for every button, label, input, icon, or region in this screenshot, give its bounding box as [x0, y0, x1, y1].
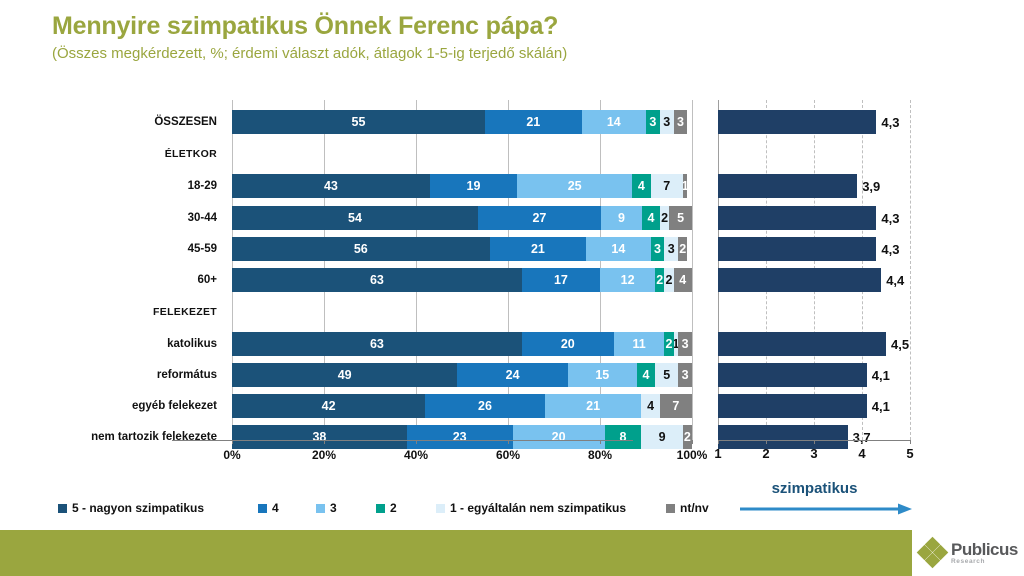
average-bar — [718, 394, 867, 418]
average-value-label: 3,9 — [862, 179, 880, 194]
bar-segment: 55 — [232, 110, 485, 134]
category-row: 18-29 — [60, 174, 225, 198]
bar-segment: 19 — [430, 174, 517, 198]
axis-tick — [862, 440, 863, 444]
bar-segment: 5 — [655, 363, 678, 387]
logo-sub-text: Research — [951, 559, 1018, 566]
bar-segment: 9 — [641, 425, 682, 449]
axis-tick — [814, 440, 815, 444]
axis-tick-label: 80% — [588, 448, 612, 462]
gridline — [910, 100, 911, 440]
bar-segment: 4 — [632, 174, 650, 198]
bar-segment: 21 — [545, 394, 642, 418]
chart-area: ÖSSZESENÉLETKOR18-2930-4445-5960+FELEKEZ… — [0, 100, 1024, 460]
legend-swatch-icon — [666, 504, 675, 513]
category-row: ÉLETKOR — [60, 142, 225, 166]
bar-segment: 3 — [678, 332, 692, 356]
legend-label: 1 - egyáltalán nem szimpatikus — [450, 501, 626, 515]
header: Mennyire szimpatikus Önnek Ferenc pápa? … — [52, 12, 952, 63]
legend-label: 3 — [330, 501, 337, 515]
footer-band — [0, 530, 1024, 576]
category-row: református — [60, 363, 225, 387]
table-row: 632011213 — [232, 332, 692, 356]
bar-segment: 3 — [678, 363, 692, 387]
bar-segment: 17 — [522, 268, 600, 292]
bar-segment: 49 — [232, 363, 457, 387]
axis-tick — [508, 440, 509, 444]
category-label: nem tartozik felekezete — [60, 431, 225, 443]
bar-segment: 15 — [568, 363, 637, 387]
bar-segment: 8 — [605, 425, 642, 449]
average-row: 3,7 — [718, 425, 871, 449]
axis-tick-label: 1 — [714, 446, 721, 461]
axis-tick-label: 5 — [906, 446, 913, 461]
average-value-label: 4,1 — [872, 399, 890, 414]
axis-tick-label: 3 — [810, 446, 817, 461]
bar-segment: 2 — [664, 332, 673, 356]
average-row: 4,5 — [718, 332, 909, 356]
bar-segment: 3 — [646, 110, 660, 134]
bar-segment: 11 — [614, 332, 665, 356]
axis-tick — [416, 440, 417, 444]
bar-segment: 23 — [407, 425, 513, 449]
logo-text: Publicus Research — [951, 541, 1018, 566]
category-label: FELEKEZET — [60, 306, 225, 318]
bar-segment: 4 — [641, 394, 659, 418]
table-row: 54279425 — [232, 206, 692, 230]
average-value-label: 4,3 — [881, 242, 899, 257]
average-value-label: 4,5 — [891, 337, 909, 352]
category-row: 60+ — [60, 268, 225, 292]
average-row: 4,1 — [718, 394, 890, 418]
bar-segment: 2 — [678, 237, 687, 261]
publicus-logo: Publicus Research — [912, 530, 1024, 576]
scale-direction-arrow-icon — [740, 502, 912, 514]
x-axis-left — [172, 440, 633, 441]
category-label: 45-59 — [60, 243, 225, 255]
bar-segment: 21 — [485, 110, 582, 134]
category-row: 45-59 — [60, 237, 225, 261]
average-value-label: 4,3 — [881, 115, 899, 130]
bar-segment: 25 — [517, 174, 632, 198]
bar-segment: 43 — [232, 174, 430, 198]
category-label: ÉLETKOR — [60, 148, 225, 160]
category-label: 30-44 — [60, 212, 225, 224]
legend-swatch-icon — [436, 504, 445, 513]
bar-segment: 42 — [232, 394, 425, 418]
legend-label: 4 — [272, 501, 279, 515]
axis-tick-label: 100% — [677, 448, 708, 462]
table-row: 631712224 — [232, 268, 692, 292]
axis-tick-label: 2 — [762, 446, 769, 461]
bar-segment: 4 — [674, 268, 692, 292]
average-value-label: 4,1 — [872, 368, 890, 383]
category-row: katolikus — [60, 332, 225, 356]
legend-swatch-icon — [258, 504, 267, 513]
bar-segment: 2 — [683, 425, 692, 449]
legend-label: 5 - nagyon szimpatikus — [72, 501, 204, 515]
average-bar — [718, 174, 857, 198]
bar-segment: 2 — [664, 268, 673, 292]
bar-segment: 3 — [651, 237, 665, 261]
bar-segment: 3 — [664, 237, 678, 261]
bar-segment: 27 — [478, 206, 601, 230]
bar-segment: 12 — [600, 268, 655, 292]
bar-segment: 14 — [586, 237, 650, 261]
bar-segment: 1 — [683, 174, 688, 198]
category-label: katolikus — [60, 338, 225, 350]
category-row: nem tartozik felekezete — [60, 425, 225, 449]
average-value-label: 4,4 — [886, 273, 904, 288]
legend-item[interactable]: 5 - nagyon szimpatikus — [58, 501, 204, 515]
scale-direction-label: szimpatikus — [718, 480, 911, 497]
bar-segment: 14 — [582, 110, 646, 134]
average-bar — [718, 268, 881, 292]
bar-segment: 38 — [232, 425, 407, 449]
gridline — [692, 100, 693, 440]
bar-segment: 2 — [655, 268, 664, 292]
legend-item[interactable]: 4 — [258, 501, 279, 515]
category-label: ÖSSZESEN — [60, 116, 225, 128]
average-bar-chart: 4,33,94,34,34,44,54,14,13,7 12345 — [718, 100, 948, 452]
bar-segment: 4 — [642, 206, 660, 230]
bar-segment: 7 — [651, 174, 683, 198]
average-row: 4,3 — [718, 237, 899, 261]
average-bar — [718, 332, 886, 356]
average-row: 3,9 — [718, 174, 880, 198]
average-row: 4,3 — [718, 206, 899, 230]
axis-tick — [910, 440, 911, 444]
axis-tick — [766, 440, 767, 444]
legend: 5 - nagyon szimpatikus4321 - egyáltalán … — [58, 498, 718, 518]
stacked-bars: 5521143334319254715427942556211433263171… — [232, 100, 692, 452]
average-row: 4,3 — [718, 110, 899, 134]
category-label: református — [60, 369, 225, 381]
axis-tick-label: 4 — [858, 446, 865, 461]
bar-segment: 63 — [232, 268, 522, 292]
page-subtitle: (Összes megkérdezett, %; érdemi választ … — [52, 45, 952, 63]
bar-segment: 54 — [232, 206, 478, 230]
average-row: 4,4 — [718, 268, 904, 292]
bar-segment: 7 — [660, 394, 692, 418]
bar-segment: 5 — [669, 206, 692, 230]
legend-swatch-icon — [58, 504, 67, 513]
average-bar — [718, 237, 876, 261]
table-row: 552114333 — [232, 110, 692, 134]
category-row: 30-44 — [60, 206, 225, 230]
category-label: 18-29 — [60, 180, 225, 192]
average-value-label: 4,3 — [881, 211, 899, 226]
diamond-logo-icon — [918, 538, 948, 568]
category-label: 60+ — [60, 274, 225, 286]
average-bar — [718, 206, 876, 230]
average-bar — [718, 363, 867, 387]
legend-label: 2 — [390, 501, 397, 515]
category-row: FELEKEZET — [60, 300, 225, 324]
bar-segment: 20 — [513, 425, 605, 449]
axis-tick — [692, 440, 693, 444]
bar-segment: 63 — [232, 332, 522, 356]
axis-tick-label: 0% — [223, 448, 240, 462]
legend-item[interactable]: 3 — [316, 501, 337, 515]
legend-item[interactable]: 1 - egyáltalán nem szimpatikus — [436, 501, 626, 515]
legend-item[interactable]: 2 — [376, 501, 397, 515]
table-row: 42262147 — [232, 394, 692, 418]
bar-segment: 2 — [660, 206, 669, 230]
legend-swatch-icon — [316, 504, 325, 513]
axis-tick-label: 60% — [496, 448, 520, 462]
legend-label: nt/nv — [680, 501, 709, 515]
category-label: egyéb felekezet — [60, 400, 225, 412]
slide: Mennyire szimpatikus Önnek Ferenc pápa? … — [0, 0, 1024, 576]
axis-tick — [324, 440, 325, 444]
axis-tick — [232, 440, 233, 444]
table-row: 382320892 — [232, 425, 692, 449]
bar-segment: 9 — [601, 206, 642, 230]
bar-segment: 20 — [522, 332, 614, 356]
category-row: egyéb felekezet — [60, 394, 225, 418]
table-row: 562114332 — [232, 237, 692, 261]
average-bar — [718, 425, 848, 449]
axis-tick-label: 20% — [312, 448, 336, 462]
axis-tick-label: 40% — [404, 448, 428, 462]
axis-tick — [718, 440, 719, 444]
legend-swatch-icon — [376, 504, 385, 513]
axis-tick — [600, 440, 601, 444]
bar-segment: 21 — [490, 237, 587, 261]
bar-segment: 3 — [660, 110, 674, 134]
average-row: 4,1 — [718, 363, 890, 387]
average-bar — [718, 110, 876, 134]
bar-segment: 56 — [232, 237, 490, 261]
category-axis: ÖSSZESENÉLETKOR18-2930-4445-5960+FELEKEZ… — [60, 100, 225, 452]
table-row: 431925471 — [232, 174, 692, 198]
bar-segment: 4 — [637, 363, 655, 387]
bar-segment: 24 — [457, 363, 567, 387]
bar-segment: 3 — [674, 110, 688, 134]
table-row: 492415453 — [232, 363, 692, 387]
stacked-bar-chart: ÖSSZESENÉLETKOR18-2930-4445-5960+FELEKEZ… — [60, 100, 692, 452]
logo-main-text: Publicus — [951, 541, 1018, 558]
category-row: ÖSSZESEN — [60, 110, 225, 134]
bar-segment: 26 — [425, 394, 545, 418]
legend-item[interactable]: nt/nv — [666, 501, 709, 515]
page-title: Mennyire szimpatikus Önnek Ferenc pápa? — [52, 12, 952, 41]
